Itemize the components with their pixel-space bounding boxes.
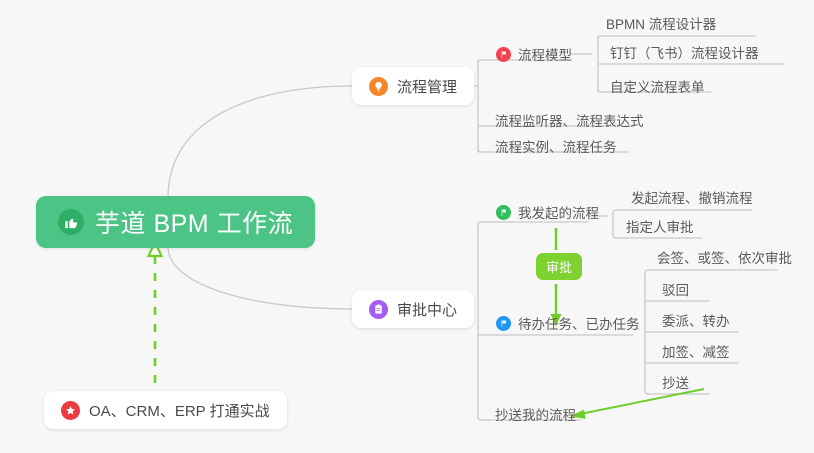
leaf-label-bpmn-designer: BPMN 流程设计器 <box>606 13 716 33</box>
mindmap-canvas: 芋道 BPM 工作流 流程管理 流程模型 BPMN 流程设计器 钉钉（飞书）流程… <box>0 0 814 453</box>
leaf-node-instance-task[interactable]: 流程实例、流程任务 <box>489 133 624 159</box>
leaf-label-countersign: 会签、或签、依次审批 <box>657 247 792 267</box>
leaf-node-dingtalk-designer[interactable]: 钉钉（飞书）流程设计器 <box>604 39 766 65</box>
star-icon <box>61 401 80 420</box>
flag-icon <box>496 205 511 220</box>
branch-label-approval-center: 审批中心 <box>397 299 457 320</box>
leaf-node-cc-my-process[interactable]: 抄送我的流程 <box>489 401 583 427</box>
approval-flow-tag[interactable]: 审批 <box>536 253 582 280</box>
approval-flow-tag-label: 审批 <box>546 257 572 276</box>
leaf-node-listener-expression[interactable]: 流程监听器、流程表达式 <box>489 107 651 133</box>
document-icon <box>369 300 388 319</box>
leaf-label-cc-my-process: 抄送我的流程 <box>495 404 576 424</box>
leaf-label-custom-form: 自定义流程表单 <box>610 76 705 96</box>
leaf-node-add-remove-sign[interactable]: 加签、减签 <box>656 338 737 364</box>
leaf-label-start-cancel-process: 发起流程、撤销流程 <box>631 187 753 207</box>
leaf-label-delegate-transfer: 委派、转办 <box>662 310 730 330</box>
leaf-label-todo-done-tasks: 待办任务、已办任务 <box>518 313 640 333</box>
flag-icon <box>496 316 511 331</box>
root-label: 芋道 BPM 工作流 <box>95 204 293 240</box>
leaf-label-instance-task: 流程实例、流程任务 <box>495 136 617 156</box>
thumbs-up-icon <box>58 209 84 235</box>
root-node[interactable]: 芋道 BPM 工作流 <box>36 196 315 248</box>
leaf-node-custom-form[interactable]: 自定义流程表单 <box>604 73 712 99</box>
lightbulb-icon <box>369 77 388 96</box>
branch-node-approval-center[interactable]: 审批中心 <box>352 290 474 328</box>
leaf-node-my-initiated-process[interactable]: 我发起的流程 <box>490 199 606 225</box>
bottom-note-node[interactable]: OA、CRM、ERP 打通实战 <box>44 391 287 429</box>
leaf-node-cc[interactable]: 抄送 <box>656 369 696 395</box>
connector-root-to-approval-center <box>168 248 352 309</box>
leaf-node-reject[interactable]: 驳回 <box>656 276 696 302</box>
leaf-node-todo-done-tasks[interactable]: 待办任务、已办任务 <box>490 310 647 336</box>
leaf-label-process-model: 流程模型 <box>518 44 572 64</box>
leaf-label-dingtalk-designer: 钉钉（飞书）流程设计器 <box>610 42 759 62</box>
connector-root-to-process-mgmt <box>168 86 352 195</box>
flag-icon <box>496 47 511 62</box>
leaf-label-reject: 驳回 <box>662 279 689 299</box>
leaf-node-bpmn-designer[interactable]: BPMN 流程设计器 <box>600 10 723 36</box>
leaf-label-cc: 抄送 <box>662 372 689 392</box>
leaf-label-assignee-approval: 指定人审批 <box>626 216 694 236</box>
leaf-node-assignee-approval[interactable]: 指定人审批 <box>620 213 701 239</box>
leaf-label-my-initiated-process: 我发起的流程 <box>518 202 599 222</box>
leaf-label-listener-expression: 流程监听器、流程表达式 <box>495 110 644 130</box>
leaf-node-delegate-transfer[interactable]: 委派、转办 <box>656 307 737 333</box>
connector-my-process-trunk <box>613 210 619 238</box>
bottom-note-label: OA、CRM、ERP 打通实战 <box>89 400 270 421</box>
leaf-node-countersign[interactable]: 会签、或签、依次审批 <box>651 244 799 270</box>
leaf-node-start-cancel-process[interactable]: 发起流程、撤销流程 <box>625 184 760 210</box>
branch-node-process-management[interactable]: 流程管理 <box>352 67 474 105</box>
branch-label-process-management: 流程管理 <box>397 76 457 97</box>
leaf-label-add-remove-sign: 加签、减签 <box>662 341 730 361</box>
leaf-node-process-model[interactable]: 流程模型 <box>490 41 579 67</box>
connector-approval-center-trunk <box>478 222 484 420</box>
